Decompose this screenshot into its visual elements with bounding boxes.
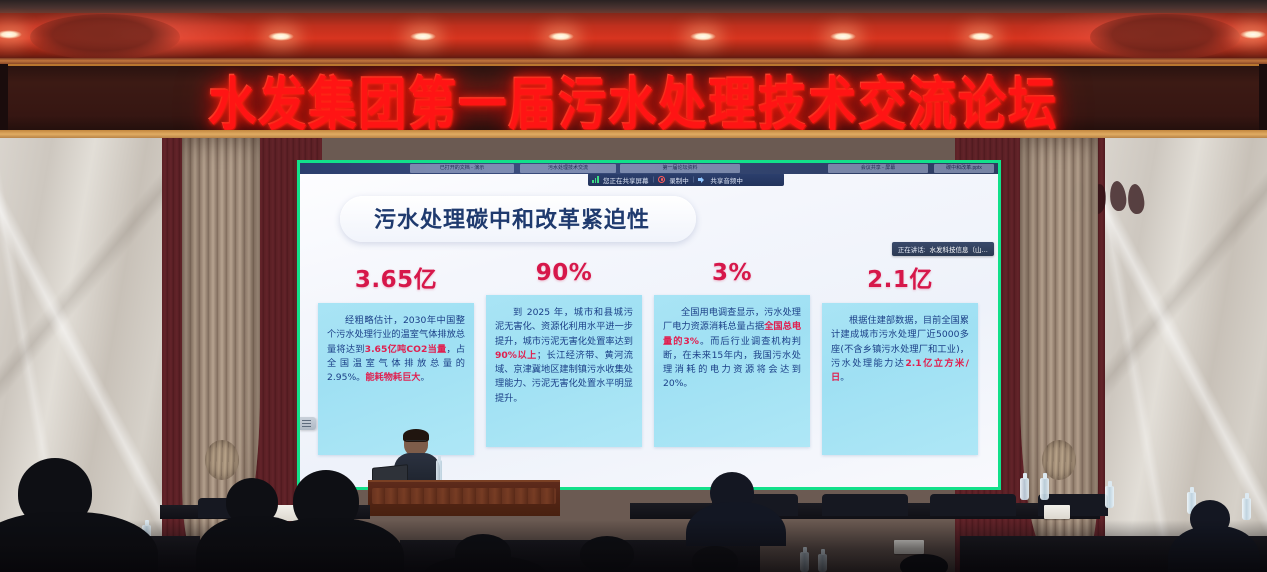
audience-head	[580, 536, 634, 572]
water-bottle	[1242, 498, 1251, 520]
audience-head	[692, 546, 738, 572]
water-bottle	[818, 554, 827, 572]
curtain-tieback-right	[1042, 440, 1076, 480]
ceiling-downlight	[690, 32, 716, 41]
ceiling-fixture-right	[1090, 14, 1240, 60]
ceiling-downlight	[1240, 30, 1266, 39]
water-bottle	[800, 552, 809, 572]
ceiling	[0, 0, 1267, 62]
presenter-glasses	[406, 440, 426, 446]
audience-seat	[822, 494, 908, 516]
ceiling-downlight	[0, 30, 22, 39]
ceiling-downlight	[410, 32, 436, 41]
audience-head	[900, 554, 948, 572]
ceiling-downlight	[830, 32, 856, 41]
ceiling-downlight	[548, 32, 574, 41]
ceiling-fixture-left	[30, 14, 180, 60]
led-banner: 水发集团第一届污水处理技术交流论坛	[0, 58, 1267, 144]
water-bottle	[1020, 478, 1029, 500]
ceiling-trim	[0, 0, 1267, 13]
banner-board: 水发集团第一届污水处理技术交流论坛	[8, 64, 1259, 134]
delegate-name-card	[894, 540, 924, 554]
ceiling-downlight	[968, 32, 994, 41]
conference-hall-scene: 水发集团第一届污水处理技术交流论坛 已打开的文档 - 演示 污水处理技术交流 第…	[0, 0, 1267, 572]
speaker-podium	[368, 480, 560, 516]
audience-seat	[930, 494, 1016, 516]
banner-title-text: 水发集团第一届污水处理技术交流论坛	[208, 64, 1058, 134]
water-bottle	[1040, 478, 1049, 500]
water-bottle	[1105, 486, 1114, 508]
curtain-tieback-left	[205, 440, 239, 480]
ceiling-downlight	[268, 32, 294, 41]
delegate-name-card	[1044, 505, 1070, 519]
